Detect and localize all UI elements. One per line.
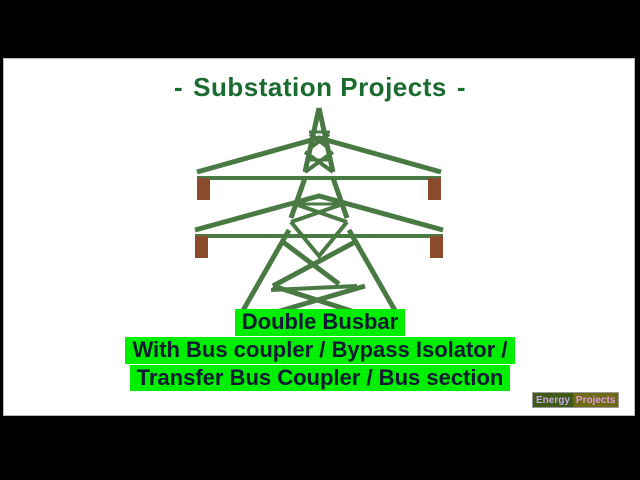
title-text: Substation Projects bbox=[193, 72, 447, 102]
watermark-part-energy: Energy bbox=[533, 393, 573, 407]
caption-line-2-text: With Bus coupler / Bypass Isolator / bbox=[125, 337, 514, 364]
letterbox-bottom bbox=[0, 418, 640, 480]
caption-line-3: Transfer Bus Coupler / Bus section bbox=[4, 365, 635, 392]
title-dash-left: - bbox=[164, 72, 193, 103]
insulator-upper-left bbox=[197, 178, 210, 200]
insulator-lower-right bbox=[430, 236, 443, 258]
caption-line-2: With Bus coupler / Bypass Isolator / bbox=[4, 337, 635, 364]
insulator-lower-left bbox=[195, 236, 208, 258]
caption-line-1-text: Double Busbar bbox=[235, 309, 405, 336]
caption-line-3-text: Transfer Bus Coupler / Bus section bbox=[130, 365, 511, 392]
caption-line-1: Double Busbar bbox=[4, 309, 635, 336]
watermark-part-projects: Projects bbox=[573, 393, 618, 407]
insulator-upper-right bbox=[428, 178, 441, 200]
tower-leg-right bbox=[349, 230, 397, 314]
page-title: -Substation Projects- bbox=[4, 72, 635, 103]
transmission-tower-svg bbox=[179, 104, 459, 319]
watermark: Energy Projects bbox=[532, 392, 619, 408]
tower-leg-left bbox=[241, 230, 289, 314]
caption-block: Double Busbar With Bus coupler / Bypass … bbox=[4, 309, 635, 391]
title-dash-right: - bbox=[447, 72, 476, 103]
video-frame: -Substation Projects- bbox=[0, 0, 640, 480]
transmission-tower-graphic bbox=[179, 104, 459, 319]
letterbox-top bbox=[0, 0, 640, 58]
slide-panel: -Substation Projects- bbox=[3, 58, 635, 416]
